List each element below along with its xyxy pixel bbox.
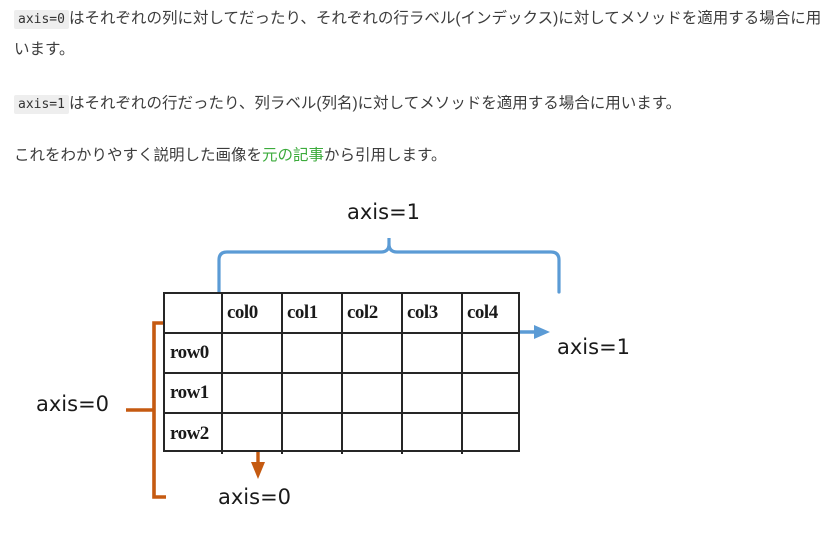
paragraph-axis0: axis=0はそれぞれの列に対してだったり、それぞれの行ラベル(インデックス)に… <box>14 4 826 65</box>
grid-cell <box>223 414 283 454</box>
grid-cell <box>223 374 283 414</box>
grid-corner-cell <box>165 294 223 334</box>
grid-cell <box>403 414 463 454</box>
label-axis0-bottom: axis=0 <box>218 485 291 509</box>
label-axis1-top: axis=1 <box>347 200 420 224</box>
column-header-col3: col3 <box>403 294 463 334</box>
inline-code-axis0: axis=0 <box>14 10 69 29</box>
column-header-col1: col1 <box>283 294 343 334</box>
grid-cell <box>343 334 403 374</box>
label-axis1-right: axis=1 <box>557 335 630 359</box>
grid-cell <box>463 334 518 374</box>
row-header-row2: row2 <box>165 414 223 454</box>
axis0-left-bracket-icon <box>108 320 168 500</box>
grid-cell <box>403 374 463 414</box>
grid-cell <box>463 414 518 454</box>
label-axis0-left: axis=0 <box>36 392 109 416</box>
row-header-row1: row1 <box>165 374 223 414</box>
inline-code-axis1: axis=1 <box>14 95 69 114</box>
paragraph-source-prefix: これをわかりやすく説明した画像を <box>14 147 262 164</box>
grid-cell <box>343 414 403 454</box>
row-header-row0: row0 <box>165 334 223 374</box>
grid-cell <box>343 374 403 414</box>
paragraph-source: これをわかりやすく説明した画像を元の記事から引用します。 <box>14 141 826 171</box>
column-header-col2: col2 <box>343 294 403 334</box>
column-header-col0: col0 <box>223 294 283 334</box>
paragraph-axis1: axis=1はそれぞれの行だったり、列ラベル(列名)に対してメソッドを適用する場… <box>14 89 826 120</box>
paragraph-axis0-text: はそれぞれの列に対してだったり、それぞれの行ラベル(インデックス)に対してメソッ… <box>14 10 821 58</box>
paragraph-source-suffix: から引用します。 <box>324 147 446 164</box>
axis1-top-brace-icon <box>215 238 563 294</box>
grid-cell <box>283 374 343 414</box>
grid-cell <box>403 334 463 374</box>
grid-cell <box>283 334 343 374</box>
source-article-link[interactable]: 元の記事 <box>262 147 324 164</box>
dataframe-grid: col0 col1 col2 col3 col4 row0 row1 row2 <box>163 292 520 452</box>
column-header-col4: col4 <box>463 294 518 334</box>
paragraph-axis1-text: はそれぞれの行だったり、列ラベル(列名)に対してメソッドを適用する場合に用います… <box>69 95 681 112</box>
grid-cell <box>223 334 283 374</box>
grid-cell <box>463 374 518 414</box>
axis-explanation-figure: col0 col1 col2 col3 col4 row0 row1 row2 … <box>0 180 837 546</box>
grid-cell <box>283 414 343 454</box>
